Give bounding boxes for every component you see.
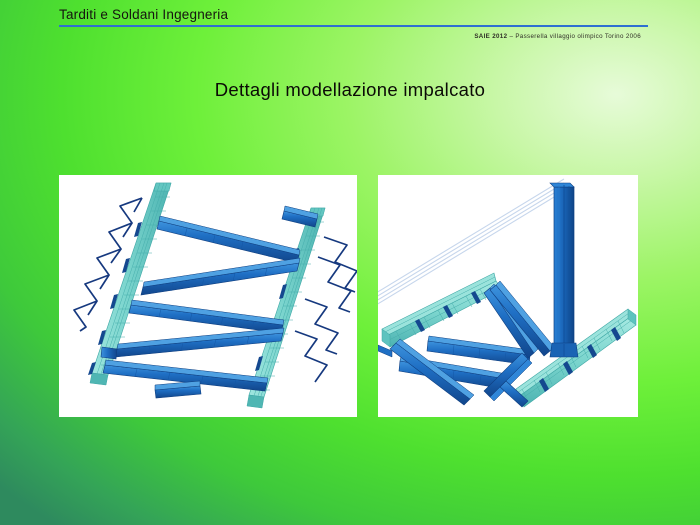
stub-beam bbox=[101, 347, 117, 359]
slide-title: Dettagli modellazione impalcato bbox=[0, 79, 700, 101]
slide-header: Tarditi e Soldani Ingegneria SAIE 2012 –… bbox=[0, 0, 700, 52]
presentation-slide: Tarditi e Soldani Ingegneria SAIE 2012 –… bbox=[0, 0, 700, 525]
figure-fem-model-deck-bracing bbox=[59, 175, 357, 417]
event-caption: SAIE 2012 – Passerella villaggio olimpic… bbox=[0, 33, 641, 40]
company-name: Tarditi e Soldani Ingegneria bbox=[59, 7, 228, 22]
event-description: Passerella villaggio olimpico Torino 200… bbox=[515, 33, 641, 40]
event-code: SAIE 2012 bbox=[474, 33, 507, 40]
fem-cross-section-mast-drawing bbox=[378, 175, 638, 417]
mast-base-connection bbox=[550, 343, 578, 357]
fem-deck-bracing-drawing bbox=[59, 175, 357, 417]
figure-fem-model-cross-section-mast bbox=[378, 175, 638, 417]
header-divider bbox=[59, 25, 648, 27]
